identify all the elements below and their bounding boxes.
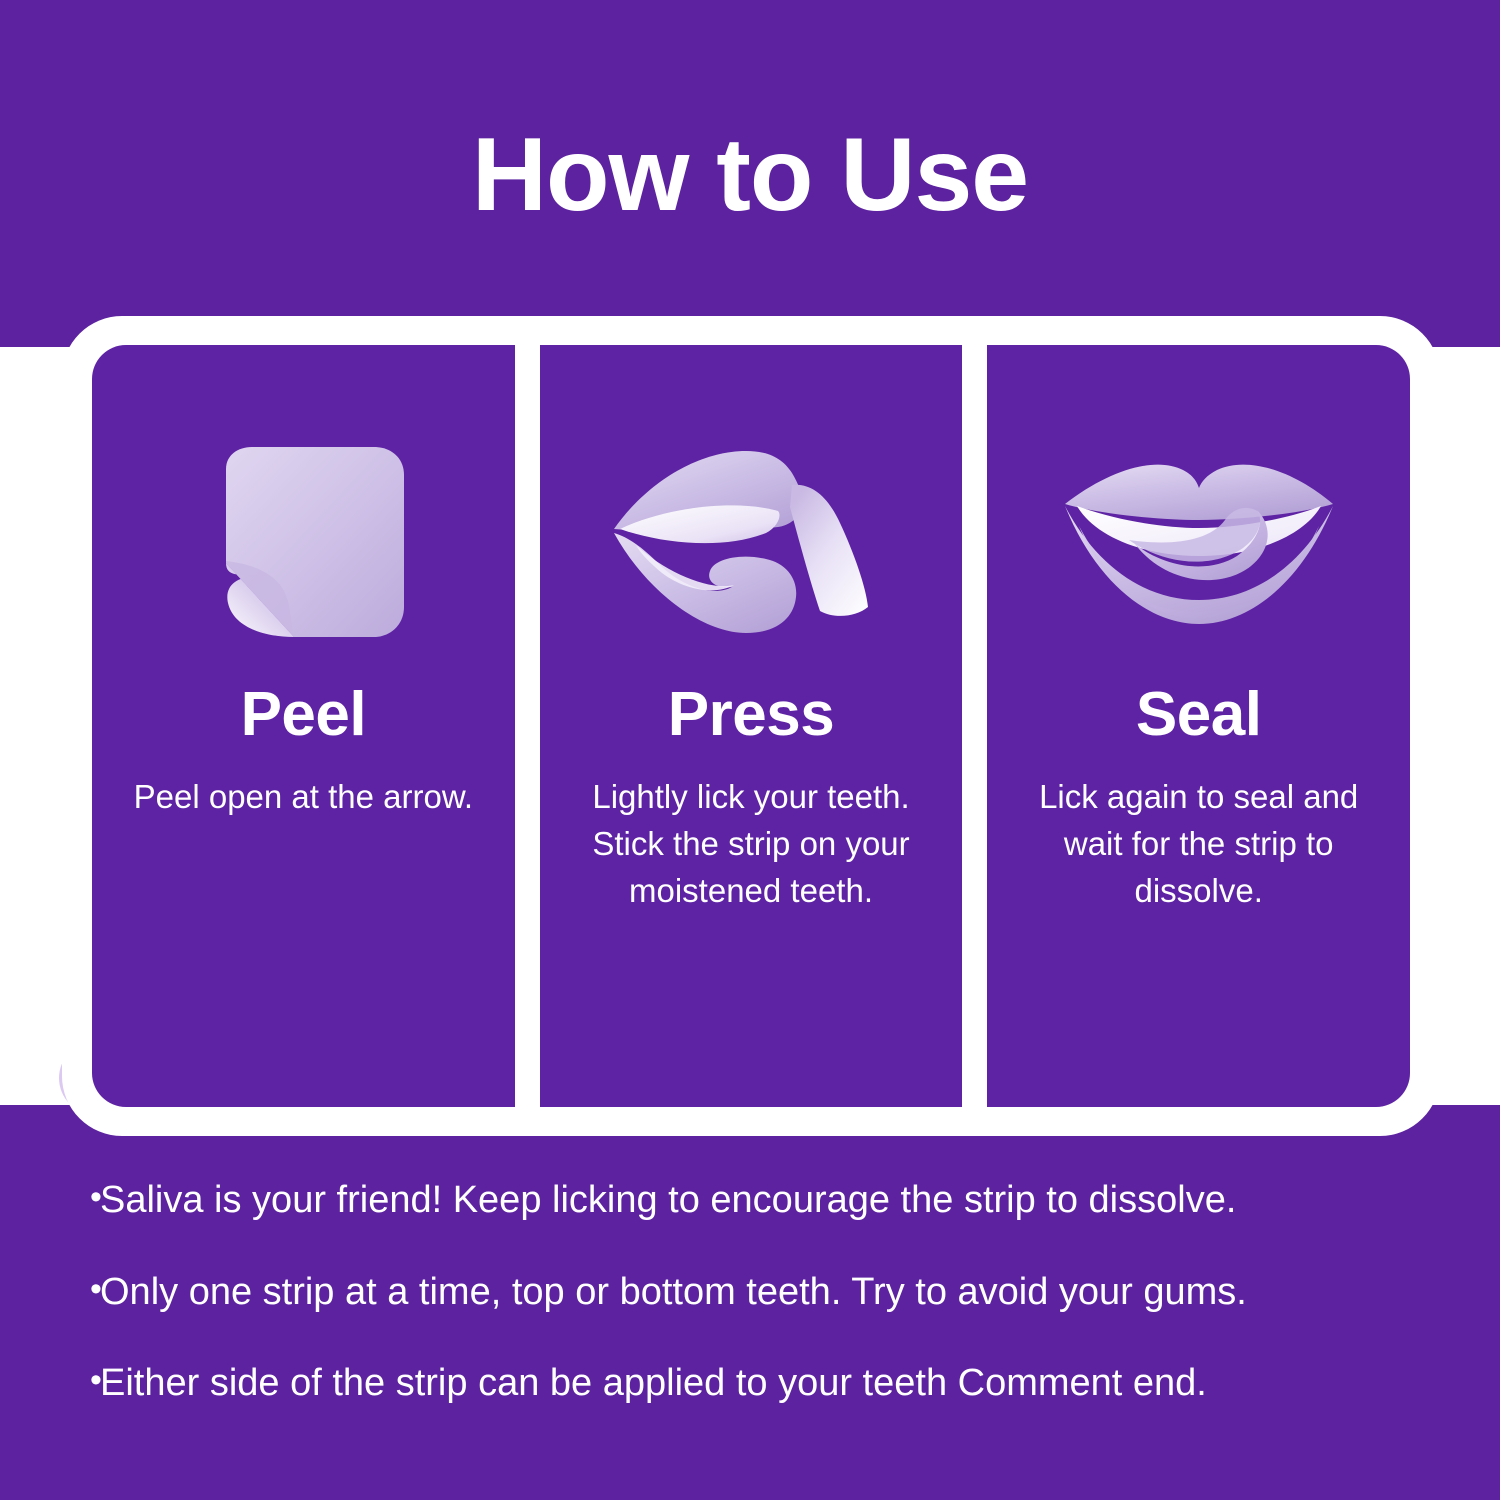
step-desc-seal: Lick again to seal and wait for the stri… — [1017, 774, 1380, 915]
list-item: • Saliva is your friend! Keep licking to… — [58, 1178, 1458, 1224]
open-mouth-strip-icon — [606, 423, 896, 673]
step-title-peel: Peel — [241, 679, 367, 750]
step-panel-peel[interactable]: Peel Peel open at the arrow. — [92, 345, 515, 1107]
step-title-press: Press — [668, 679, 834, 750]
pro-tips-list: • Saliva is your friend! Keep licking to… — [58, 1178, 1458, 1407]
list-item: • Only one strip at a time, top or botto… — [58, 1270, 1458, 1316]
bullet-glyph: • — [58, 1270, 100, 1309]
sealed-lips-icon — [1059, 423, 1339, 673]
list-item: • Either side of the strip can be applie… — [58, 1361, 1458, 1407]
peel-sticker-icon — [198, 423, 408, 673]
step-panel-seal[interactable]: Seal Lick again to seal and wait for the… — [987, 345, 1410, 1107]
tip-text: Only one strip at a time, top or bottom … — [100, 1270, 1247, 1316]
bullet-glyph: • — [58, 1178, 100, 1217]
bullet-glyph: • — [58, 1361, 100, 1400]
tip-text: Either side of the strip can be applied … — [100, 1361, 1207, 1407]
step-panel-press[interactable]: Press Lightly lick your teeth. Stick the… — [540, 345, 963, 1107]
step-desc-press: Lightly lick your teeth. Stick the strip… — [569, 774, 932, 915]
tip-text: Saliva is your friend! Keep licking to e… — [100, 1178, 1236, 1224]
page-title: How to Use — [0, 118, 1500, 232]
step-title-seal: Seal — [1136, 679, 1262, 750]
steps-frame: Peel Peel open at the arrow. — [62, 316, 1440, 1136]
step-desc-peel: Peel open at the arrow. — [134, 774, 473, 821]
